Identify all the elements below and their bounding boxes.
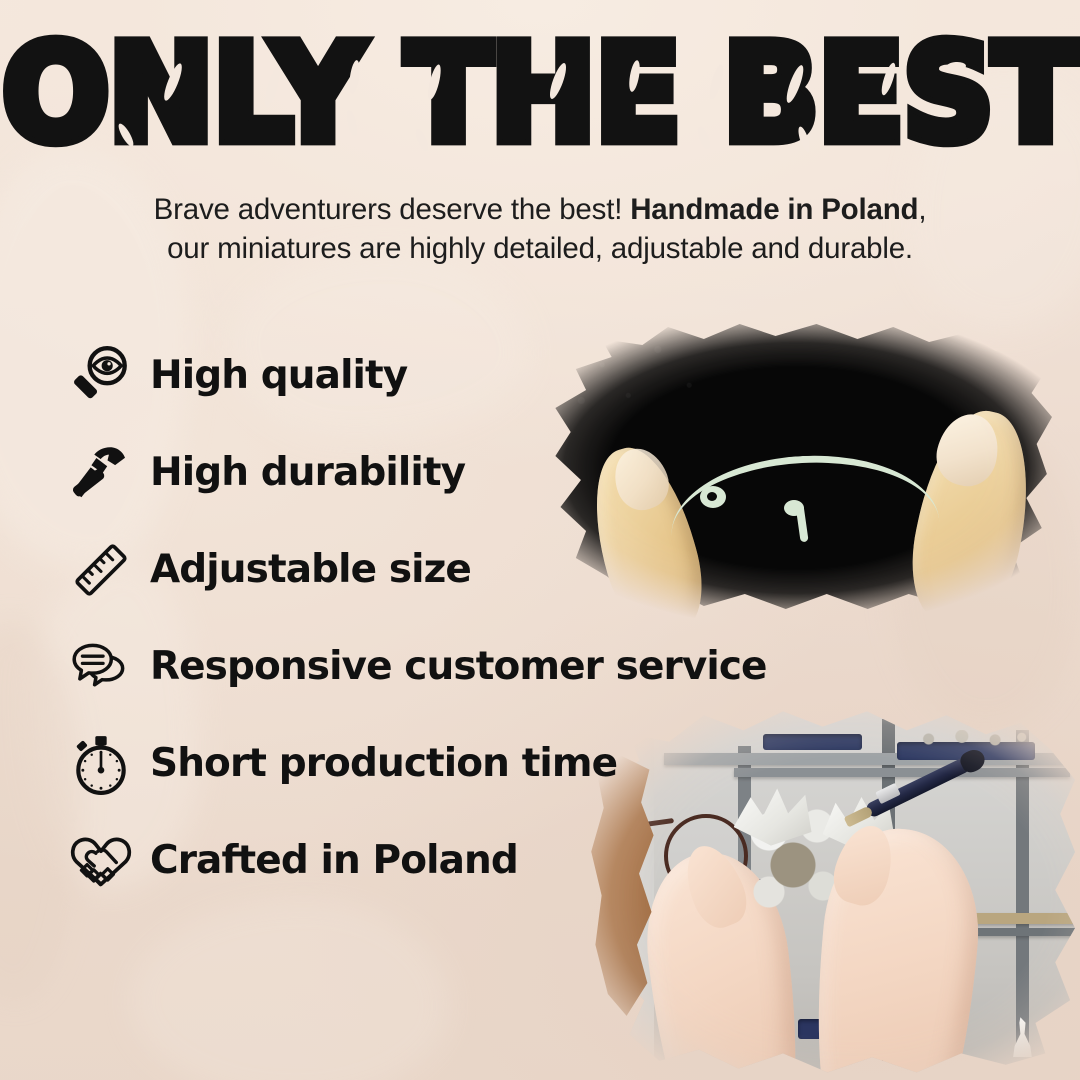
paint-brush bbox=[865, 756, 972, 819]
feature-label: High durability bbox=[150, 450, 465, 495]
feature-row: Responsive customer service bbox=[62, 618, 792, 715]
subtitle-line-two: our miniatures are highly detailed, adju… bbox=[167, 232, 913, 265]
page-title: ONLY THE BEST bbox=[2, 30, 1077, 157]
feature-row: Adjustable size bbox=[62, 521, 792, 618]
feature-row: High durability bbox=[62, 424, 792, 521]
stopwatch-icon bbox=[62, 731, 140, 797]
feature-row: Crafted in Poland bbox=[62, 812, 792, 909]
poster-canvas: ONLY THE BEST Brave adventurers deserve … bbox=[0, 0, 1080, 1080]
feature-label: Short production time bbox=[150, 741, 617, 786]
feature-label: Adjustable size bbox=[150, 547, 471, 592]
unpainted-miniature bbox=[1009, 1017, 1035, 1057]
magnifier-eye-icon bbox=[62, 343, 140, 409]
feature-label: High quality bbox=[150, 353, 407, 398]
feature-label: Crafted in Poland bbox=[150, 838, 518, 883]
speech-bubbles-icon bbox=[62, 634, 140, 700]
feature-row: Short production time bbox=[62, 715, 792, 812]
hammer-icon bbox=[62, 440, 140, 506]
subtitle-bold-phrase: Handmade in Poland bbox=[630, 193, 918, 226]
subtitle: Brave adventurers deserve the best! Hand… bbox=[0, 190, 1080, 268]
subtitle-comma: , bbox=[918, 193, 926, 226]
subtitle-lead: Brave adventurers deserve the best! bbox=[154, 193, 623, 226]
feature-row: High quality bbox=[62, 327, 792, 424]
handshake-heart-icon bbox=[62, 828, 140, 894]
title-block: ONLY THE BEST bbox=[0, 34, 1080, 154]
feature-list: High quality High durability bbox=[62, 327, 792, 909]
ruler-icon bbox=[62, 537, 140, 603]
feature-label: Responsive customer service bbox=[150, 644, 767, 689]
